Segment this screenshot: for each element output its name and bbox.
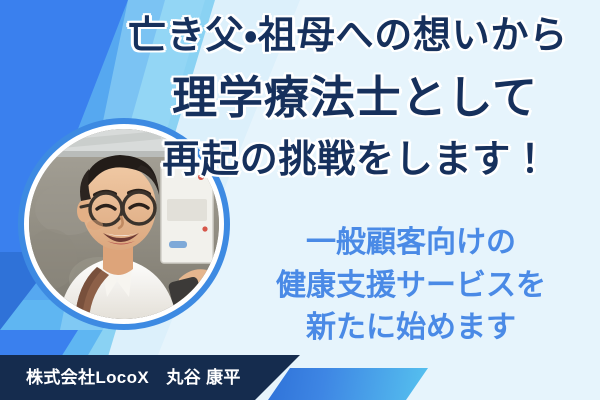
footer-accent-chevron <box>268 368 428 400</box>
headline-block: 亡き父・祖母への想いから 理学療法士として 再起の挑戦をします！ <box>100 8 596 183</box>
subtitle-line-2: 健康支援サービスを <box>246 265 576 308</box>
subtitle-block: 一般顧客向けの 健康支援サービスを 新たに始めます <box>246 222 576 350</box>
subtitle-line-1: 一般顧客向けの <box>246 222 576 265</box>
headline-line-3: 再起の挑戦をします！ <box>116 138 596 183</box>
footer-company-person: 株式会社LocoX 丸谷 康平 <box>26 355 241 400</box>
subtitle-line-3: 新たに始めます <box>246 307 576 350</box>
headline-line-1: 亡き父・祖母への想いから <box>100 14 596 59</box>
headline-line-2: 理学療法士として <box>114 71 596 124</box>
promo-banner: 亡き父・祖母への想いから 理学療法士として 再起の挑戦をします！ 一般顧客向けの… <box>0 0 600 400</box>
